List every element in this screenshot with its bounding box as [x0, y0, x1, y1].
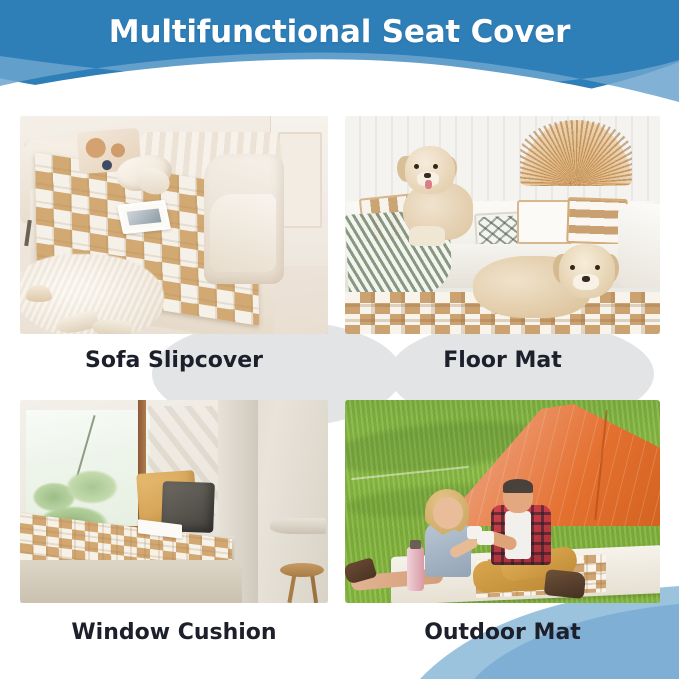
- label-outdoor-mat: Outdoor Mat: [345, 620, 660, 645]
- label-window-cushion: Window Cushion: [20, 620, 328, 645]
- infographic-root: Multifunctional Seat Cover Sofa Slipcove: [0, 0, 679, 679]
- photo-outdoor-mat: [345, 400, 660, 603]
- page-title: Multifunctional Seat Cover: [0, 14, 679, 50]
- label-sofa-slipcover: Sofa Slipcover: [20, 348, 328, 373]
- product-cell-window-cushion[interactable]: [20, 400, 328, 603]
- photo-floor-mat: [345, 116, 660, 334]
- dog-lying: [473, 244, 623, 326]
- rattan-wall-decor: [520, 120, 632, 186]
- label-floor-mat: Floor Mat: [345, 348, 660, 373]
- dog-sitting: [399, 146, 473, 240]
- photo-window-cushion: [20, 400, 328, 603]
- header-banner: Multifunctional Seat Cover: [0, 0, 679, 118]
- photo-sofa-slipcover: [20, 116, 328, 334]
- product-cell-outdoor-mat[interactable]: [345, 400, 660, 603]
- product-cell-floor-mat[interactable]: [345, 116, 660, 334]
- thermos-bottle: [407, 547, 424, 591]
- product-cell-sofa-slipcover[interactable]: [20, 116, 328, 334]
